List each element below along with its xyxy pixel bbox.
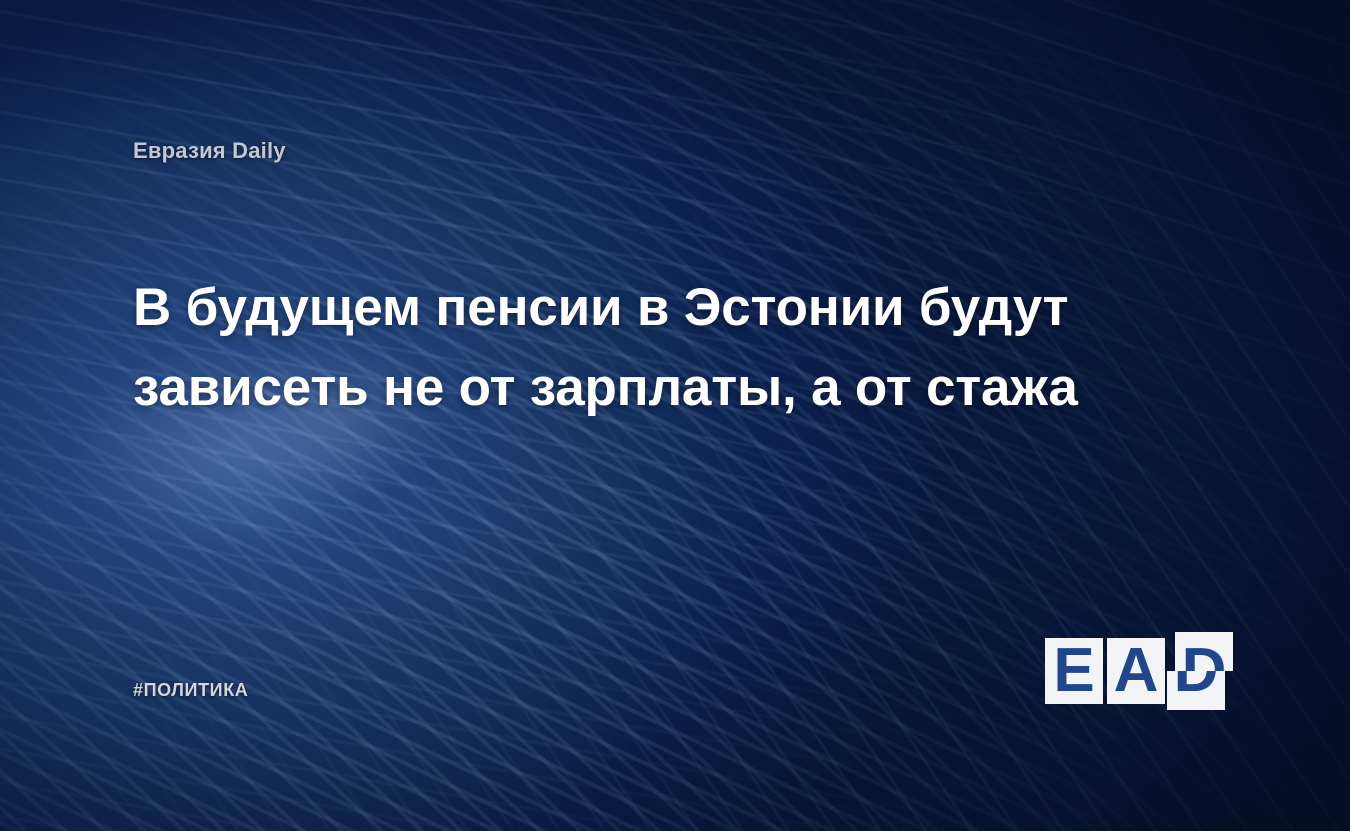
logo-letter-e: E	[1045, 638, 1103, 704]
logo-tile-a: A	[1107, 638, 1165, 704]
headline: В будущем пенсии в Эстонии будут зависет…	[133, 268, 1193, 428]
headline-line-1: В будущем пенсии в Эстонии будут	[133, 268, 1193, 348]
card-content: Евразия Daily В будущем пенсии в Эстонии…	[0, 0, 1350, 831]
logo-letter-a: A	[1107, 638, 1165, 704]
headline-line-2: зависеть не от зарплаты, а от стажа	[133, 348, 1193, 428]
eadaily-logo[interactable]: E A D D	[1045, 632, 1223, 710]
logo-tile-d-bottom: D	[1167, 671, 1225, 710]
logo-letter-d-top: D	[1175, 638, 1233, 671]
logo-letter-d-bottom: D	[1167, 671, 1225, 704]
article-share-card: Евразия Daily В будущем пенсии в Эстонии…	[0, 0, 1350, 831]
site-name: Евразия Daily	[133, 138, 286, 164]
category-tag[interactable]: #ПОЛИТИКА	[133, 680, 248, 701]
logo-tile-e: E	[1045, 638, 1103, 704]
logo-tile-d-top: D	[1175, 632, 1233, 671]
